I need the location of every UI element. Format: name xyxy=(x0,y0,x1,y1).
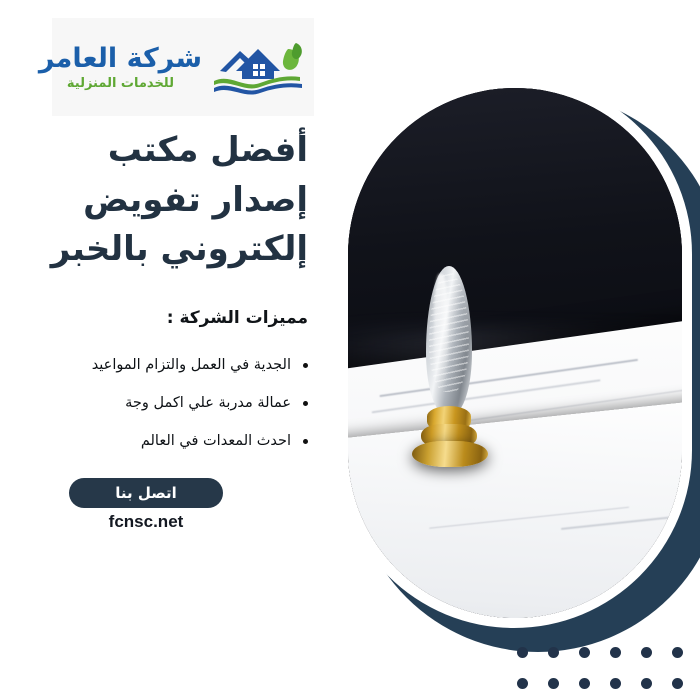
dot-grid-decoration xyxy=(497,647,700,700)
features-title: مميزات الشركة : xyxy=(42,308,308,328)
poster-canvas: شركة العامر للخدمات المنزلية أفضل مكتب إ… xyxy=(0,0,700,700)
website-url[interactable]: fcnsc.net xyxy=(69,512,223,532)
feature-text: الجدية في العمل والتزام المواعيد xyxy=(92,357,291,373)
feature-text: عمالة مدربة علي اكمل وجة xyxy=(125,395,291,411)
decor-dot xyxy=(641,678,652,689)
bullet-icon xyxy=(303,439,308,444)
list-item: احدث المعدات في العالم xyxy=(42,422,308,460)
decor-dot xyxy=(579,647,590,658)
headline: أفضل مكتب إصدار تفويض إلكتروني بالخبر xyxy=(42,126,308,275)
list-item: عمالة مدربة علي اكمل وجة xyxy=(42,384,308,422)
features-list: الجدية في العمل والتزام المواعيد عمالة م… xyxy=(42,346,308,460)
decor-dot xyxy=(517,647,528,658)
decor-dot xyxy=(672,678,683,689)
headline-line-2: إصدار تفويض xyxy=(42,176,308,226)
bullet-icon xyxy=(303,401,308,406)
logo-tagline: للخدمات المنزلية xyxy=(67,77,174,90)
notary-stamp-photo xyxy=(348,88,682,618)
company-logo[interactable]: شركة العامر للخدمات المنزلية xyxy=(52,18,314,116)
decor-dot xyxy=(610,647,621,658)
list-item: الجدية في العمل والتزام المواعيد xyxy=(42,346,308,384)
decor-dot xyxy=(641,647,652,658)
decor-dot xyxy=(579,678,590,689)
decor-dot xyxy=(672,647,683,658)
headline-line-3: إلكتروني بالخبر xyxy=(42,225,308,275)
decor-dot xyxy=(517,678,528,689)
contact-us-button[interactable]: اتصل بنا xyxy=(69,478,223,508)
notary-stamp-icon xyxy=(410,266,492,474)
photo-backdrop xyxy=(348,88,682,618)
bullet-icon xyxy=(303,363,308,368)
logo-company-name: شركة العامر xyxy=(39,45,202,72)
decor-dot xyxy=(548,647,559,658)
feature-text: احدث المعدات في العالم xyxy=(141,433,291,449)
headline-line-1: أفضل مكتب xyxy=(42,126,308,176)
decor-dot xyxy=(548,678,559,689)
decor-dot xyxy=(610,678,621,689)
house-with-leaf-icon xyxy=(210,31,306,103)
